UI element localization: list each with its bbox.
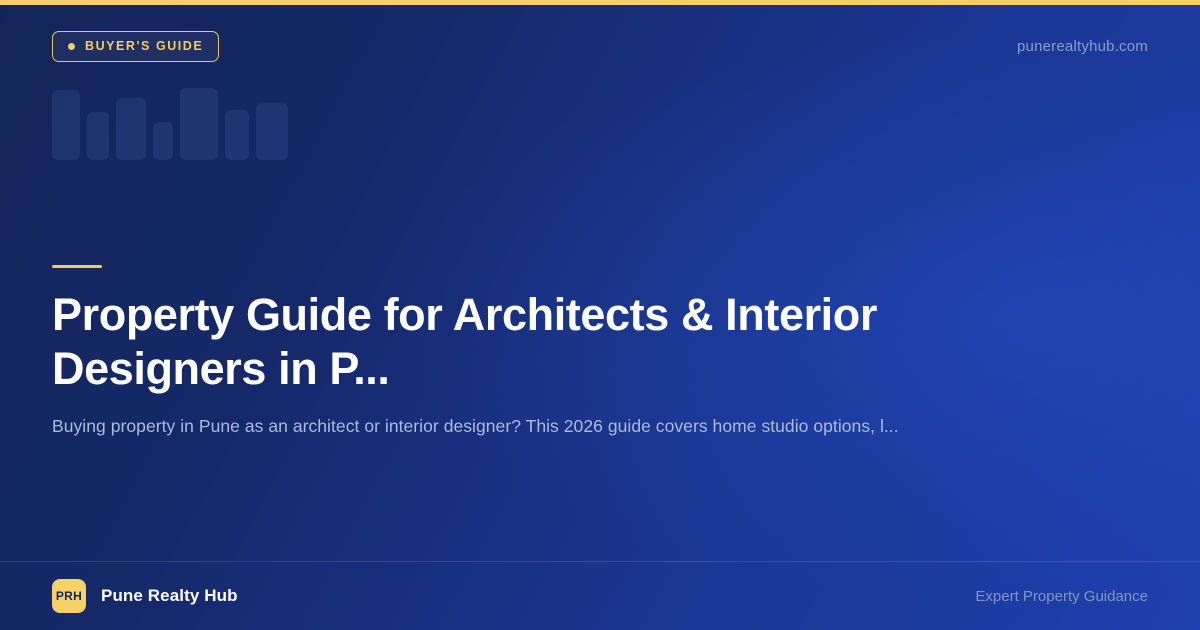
decorative-bar [180, 88, 218, 160]
brand[interactable]: PRH Pune Realty Hub [52, 579, 238, 613]
dot-icon [68, 43, 75, 50]
card-inner: BUYER'S GUIDE punerealtyhub.com Property… [0, 0, 1200, 630]
decorative-bar [256, 103, 288, 160]
site-url: punerealtyhub.com [1017, 38, 1148, 55]
decorative-bar-chart [52, 88, 312, 160]
badge-label: BUYER'S GUIDE [85, 40, 203, 53]
buyers-guide-badge[interactable]: BUYER'S GUIDE [52, 31, 219, 62]
title-divider [52, 265, 102, 268]
brand-logo-icon: PRH [52, 579, 86, 613]
top-accent-bar [0, 0, 1200, 5]
footer-tagline: Expert Property Guidance [975, 588, 1148, 605]
brand-name: Pune Realty Hub [101, 586, 238, 606]
decorative-bar [116, 98, 146, 160]
page-subtitle: Buying property in Pune as an architect … [52, 414, 1062, 439]
footer: PRH Pune Realty Hub Expert Property Guid… [0, 562, 1200, 630]
decorative-bar [87, 112, 109, 160]
decorative-bar [225, 110, 249, 160]
decorative-bar [153, 122, 173, 160]
decorative-bar [52, 90, 80, 160]
page-title: Property Guide for Architects & Interior… [52, 288, 972, 395]
social-card: BUYER'S GUIDE punerealtyhub.com Property… [0, 0, 1200, 630]
